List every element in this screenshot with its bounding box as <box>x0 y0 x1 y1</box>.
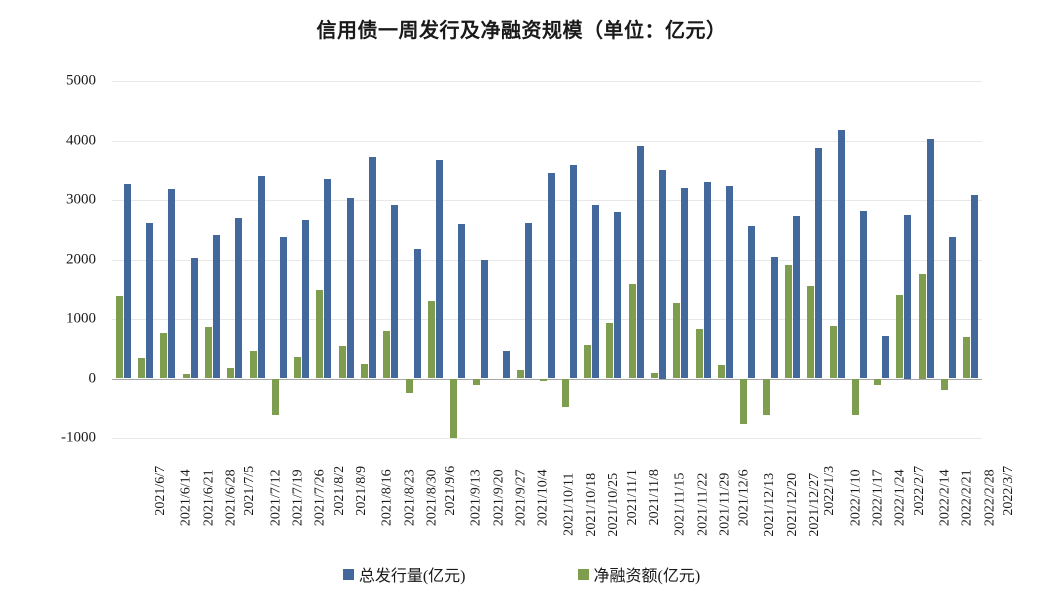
x-axis-tick-label: 2021/11/15 <box>673 473 689 536</box>
x-axis: 2021/6/72021/6/142021/6/212021/6/282021/… <box>112 441 982 546</box>
x-axis-tick-label: 2021/8/9 <box>354 466 370 516</box>
bar-net-financing <box>339 346 346 378</box>
y-axis-tick-label: -1000 <box>61 430 96 447</box>
bar-total-issuance <box>280 237 287 378</box>
bar-total-issuance <box>726 186 733 378</box>
y-axis-tick-label: 2000 <box>66 251 96 268</box>
bar-net-financing <box>651 373 658 378</box>
x-axis-tick-label: 2021/11/29 <box>717 473 733 536</box>
bar-total-issuance <box>815 148 822 378</box>
bar-total-issuance <box>213 235 220 379</box>
bar-net-financing <box>383 331 390 379</box>
y-axis-tick-label: 5000 <box>66 73 96 90</box>
bar-total-issuance <box>570 165 577 378</box>
bar-total-issuance <box>860 211 867 379</box>
x-axis-tick-label: 2021/12/20 <box>785 473 801 537</box>
bar-total-issuance <box>124 184 131 379</box>
x-axis-tick-label: 2021/7/19 <box>290 469 306 526</box>
bar-net-financing <box>138 358 145 378</box>
x-axis-tick-label: 2021/7/12 <box>268 469 284 526</box>
bar-net-financing <box>473 379 480 386</box>
x-axis-tick-label: 2022/2/21 <box>960 469 976 526</box>
x-axis-tick-label: 2021/6/21 <box>201 469 217 526</box>
bar-net-financing <box>941 379 948 391</box>
gridline <box>112 438 982 439</box>
bar-net-financing <box>406 379 413 394</box>
bar-total-issuance <box>168 189 175 378</box>
bar-total-issuance <box>637 146 644 378</box>
x-axis-tick-label: 2021/7/26 <box>313 469 329 526</box>
x-axis-tick-label: 2021/11/1 <box>625 469 641 525</box>
bar-total-issuance <box>436 160 443 379</box>
bar-total-issuance <box>481 260 488 378</box>
bar-net-financing <box>116 296 123 378</box>
bar-total-issuance <box>882 336 889 379</box>
x-axis-tick-label: 2022/1/3 <box>822 466 838 516</box>
x-axis-tick-label: 2021/12/27 <box>807 473 823 537</box>
x-axis-tick-label: 2021/6/28 <box>223 469 239 526</box>
x-axis-tick-label: 2021/9/27 <box>513 469 529 526</box>
bar-net-financing <box>807 286 814 378</box>
bar-net-financing <box>450 379 457 439</box>
bar-total-issuance <box>525 223 532 379</box>
x-axis-tick-label: 2021/12/6 <box>737 469 753 526</box>
x-axis-tick-label: 2021/8/30 <box>424 469 440 526</box>
y-axis-tick-label: 1000 <box>66 311 96 328</box>
chart-title: 信用债一周发行及净融资规模（单位：亿元） <box>0 14 1043 43</box>
bar-total-issuance <box>771 257 778 378</box>
x-axis-tick-label: 2021/6/14 <box>179 469 195 526</box>
bar-total-issuance <box>904 215 911 379</box>
x-axis-tick-label: 2021/9/13 <box>469 469 485 526</box>
bar-net-financing <box>227 368 234 379</box>
x-axis-tick-label: 2021/11/8 <box>647 469 663 525</box>
y-axis-tick-label: 0 <box>89 370 97 387</box>
legend-item-total[interactable]: 总发行量(亿元) <box>343 562 466 586</box>
gridline <box>112 81 982 82</box>
bar-net-financing <box>963 337 970 379</box>
bar-total-issuance <box>458 224 465 379</box>
credit-bond-weekly-issuance-chart: 信用债一周发行及净融资规模（单位：亿元） 5000400030002000100… <box>0 0 1043 612</box>
x-axis-tick-label: 2021/10/4 <box>536 469 552 526</box>
bar-net-financing <box>294 357 301 378</box>
x-axis-tick-label: 2021/6/7 <box>153 466 169 516</box>
bar-net-financing <box>540 379 547 381</box>
bar-net-financing <box>874 379 881 386</box>
bar-net-financing <box>361 364 368 378</box>
bar-net-financing <box>919 274 926 378</box>
bar-total-issuance <box>324 179 331 378</box>
x-axis-tick-label: 2021/8/16 <box>380 469 396 526</box>
bar-total-issuance <box>347 198 354 378</box>
bar-net-financing <box>785 265 792 378</box>
bar-total-issuance <box>659 170 666 378</box>
bar-total-issuance <box>592 205 599 378</box>
bar-net-financing <box>606 323 613 378</box>
bar-net-financing <box>160 333 167 378</box>
x-axis-tick-label: 2021/8/23 <box>402 469 418 526</box>
bar-total-issuance <box>949 237 956 379</box>
x-axis-tick-label: 2021/10/25 <box>606 473 622 537</box>
bar-net-financing <box>696 329 703 379</box>
x-axis-tick-label: 2022/1/24 <box>893 469 909 526</box>
x-axis-tick-label: 2022/2/7 <box>912 466 928 516</box>
bar-total-issuance <box>681 188 688 378</box>
bar-net-financing <box>830 326 837 378</box>
y-axis-tick-label: 4000 <box>66 132 96 149</box>
x-axis-tick-label: 2022/3/7 <box>1001 466 1017 516</box>
bar-total-issuance <box>793 216 800 378</box>
x-axis-tick-label: 2021/8/2 <box>332 466 348 516</box>
bar-total-issuance <box>748 226 755 379</box>
bar-total-issuance <box>258 176 265 378</box>
x-axis-tick-label: 2021/9/6 <box>443 466 459 516</box>
bar-total-issuance <box>191 258 198 379</box>
bar-net-financing <box>852 379 859 416</box>
bar-net-financing <box>562 379 569 408</box>
x-axis-tick-label: 2021/11/22 <box>695 473 711 536</box>
x-axis-tick-label: 2022/1/17 <box>870 469 886 526</box>
plot-area <box>112 81 982 438</box>
x-axis-tick-label: 2021/10/18 <box>584 473 600 537</box>
x-axis-tick-label: 2021/12/13 <box>762 473 778 537</box>
gridline <box>112 141 982 142</box>
bar-total-issuance <box>302 220 309 378</box>
x-axis-tick-label: 2021/7/5 <box>242 466 258 516</box>
bar-net-financing <box>517 370 524 379</box>
legend-label: 总发行量(亿元) <box>359 562 466 586</box>
bar-net-financing <box>316 290 323 379</box>
bar-total-issuance <box>548 173 555 378</box>
bar-total-issuance <box>971 195 978 379</box>
bar-total-issuance <box>614 212 621 378</box>
bar-net-financing <box>896 295 903 378</box>
legend-swatch-icon <box>578 569 589 580</box>
x-axis-tick-label: 2021/10/11 <box>561 473 577 536</box>
bar-net-financing <box>763 379 770 415</box>
legend-item-net[interactable]: 净融资额(亿元) <box>578 562 701 586</box>
x-axis-tick-label: 2022/1/10 <box>848 469 864 526</box>
x-axis-tick-label: 2022/2/28 <box>982 469 998 526</box>
bar-total-issuance <box>704 182 711 379</box>
bar-net-financing <box>629 284 636 378</box>
legend-label: 净融资额(亿元) <box>594 562 701 586</box>
y-axis: 500040003000200010000-1000 <box>0 81 104 438</box>
bar-net-financing <box>183 374 190 379</box>
bar-net-financing <box>272 379 279 415</box>
bar-total-issuance <box>503 351 510 378</box>
x-axis-tick-label: 2021/9/20 <box>491 469 507 526</box>
bar-net-financing <box>205 327 212 379</box>
bar-total-issuance <box>369 157 376 378</box>
bar-total-issuance <box>235 218 242 379</box>
bar-net-financing <box>428 301 435 378</box>
legend-swatch-icon <box>343 569 354 580</box>
bar-total-issuance <box>391 205 398 379</box>
bar-total-issuance <box>146 223 153 378</box>
x-axis-tick-label: 2022/2/14 <box>937 469 953 526</box>
bar-net-financing <box>250 351 257 378</box>
bar-net-financing <box>673 303 680 379</box>
bar-net-financing <box>740 379 747 424</box>
bar-total-issuance <box>838 130 845 378</box>
y-axis-tick-label: 3000 <box>66 192 96 209</box>
bar-total-issuance <box>927 139 934 378</box>
bar-net-financing <box>718 365 725 379</box>
bar-net-financing <box>584 345 591 379</box>
chart-legend: 总发行量(亿元)净融资额(亿元) <box>0 562 1043 586</box>
bar-total-issuance <box>414 249 421 379</box>
